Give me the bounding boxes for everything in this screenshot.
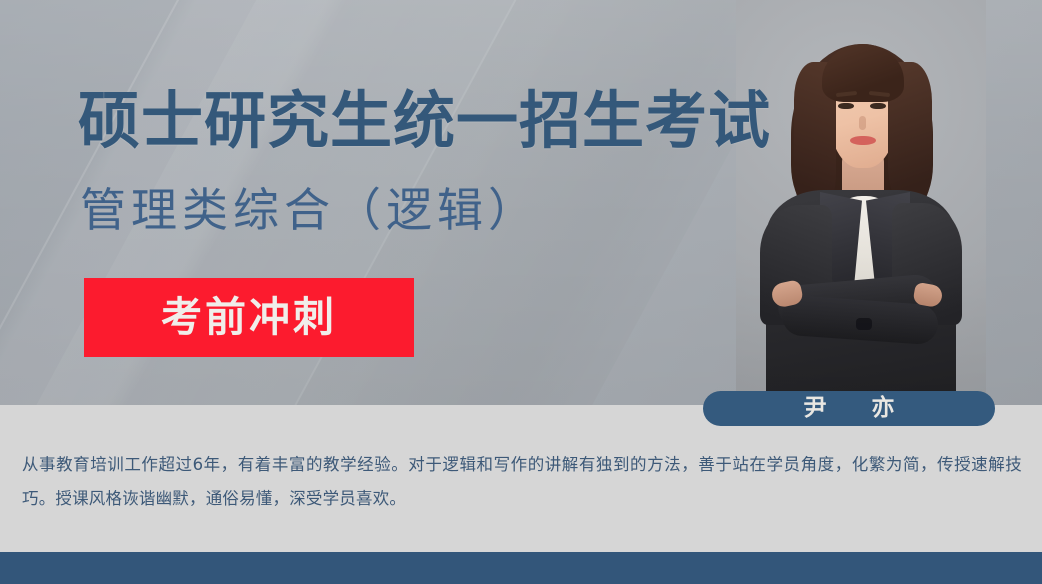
portrait-nose — [859, 116, 866, 130]
portrait-eye-left — [838, 103, 854, 109]
instructor-description: 从事教育培训工作超过6年，有着丰富的教学经验。对于逻辑和写作的讲解有独到的方法，… — [22, 448, 1022, 516]
sprint-badge-label: 考前冲刺 — [161, 297, 337, 338]
course-poster: 硕士研究生统一招生考试 管理类综合（逻辑） 考前冲刺 尹 亦 从事教育培训工作超… — [0, 0, 1042, 584]
portrait-eye-right — [870, 103, 886, 109]
portrait-blazer-button — [856, 318, 872, 330]
page-title: 硕士研究生统一招生考试 — [78, 86, 771, 156]
description-band: 从事教育培训工作超过6年，有着丰富的教学经验。对于逻辑和写作的讲解有独到的方法，… — [0, 405, 1042, 552]
instructor-portrait — [736, 0, 986, 405]
instructor-nameplate: 尹 亦 — [703, 391, 995, 426]
portrait-mouth — [850, 136, 876, 145]
instructor-name-label: 尹 亦 — [793, 397, 906, 420]
page-subtitle: 管理类综合（逻辑） — [80, 182, 539, 238]
bottom-accent-bar — [0, 552, 1042, 584]
sprint-badge: 考前冲刺 — [84, 278, 414, 357]
